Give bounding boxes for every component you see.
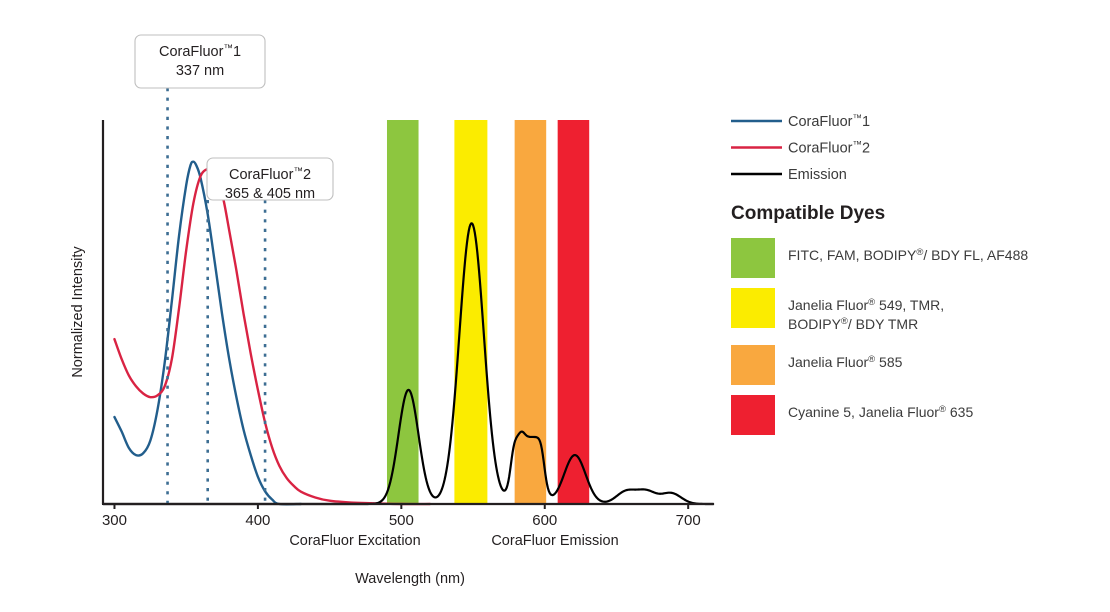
green-band [387, 120, 419, 504]
x-tick-label-400: 400 [245, 512, 270, 529]
y-axis-title: Normalized Intensity [70, 246, 86, 378]
x-axis-title: Wavelength (nm) [355, 571, 465, 587]
dye-label-4: Cyanine 5, Janelia Fluor® 635 [788, 404, 973, 421]
x-tick-label-700: 700 [676, 512, 701, 529]
red-band [558, 120, 590, 504]
corafluor2-callout-line2: 365 & 405 nm [225, 186, 315, 202]
dye-swatch-1 [731, 238, 775, 278]
dye-label-2-line1: Janelia Fluor® 549, TMR, [788, 297, 944, 314]
dye-label-2-line2: BODIPY®/ BDY TMR [788, 316, 918, 333]
corafluor1-callout-line2: 337 nm [176, 63, 224, 79]
dye-swatch-2 [731, 288, 775, 328]
corafluor1-callout-box [135, 35, 265, 88]
dye-label-1: FITC, FAM, BODIPY®/ BDY FL, AF488 [788, 247, 1028, 264]
legend-label-3: Emission [788, 167, 847, 183]
x-tick-label-500: 500 [389, 512, 414, 529]
spectral-chart-figure: 300400500600700CoraFluor ExcitationCoraF… [0, 0, 1110, 612]
compatible-dyes-title: Compatible Dyes [731, 203, 885, 224]
section-label-emission: CoraFluor Emission [491, 533, 618, 549]
x-tick-label-300: 300 [102, 512, 127, 529]
dye-swatch-3 [731, 345, 775, 385]
section-label-excitation: CoraFluor Excitation [289, 533, 420, 549]
dye-label-3: Janelia Fluor® 585 [788, 354, 903, 371]
dye-swatch-4 [731, 395, 775, 435]
x-tick-label-600: 600 [532, 512, 557, 529]
